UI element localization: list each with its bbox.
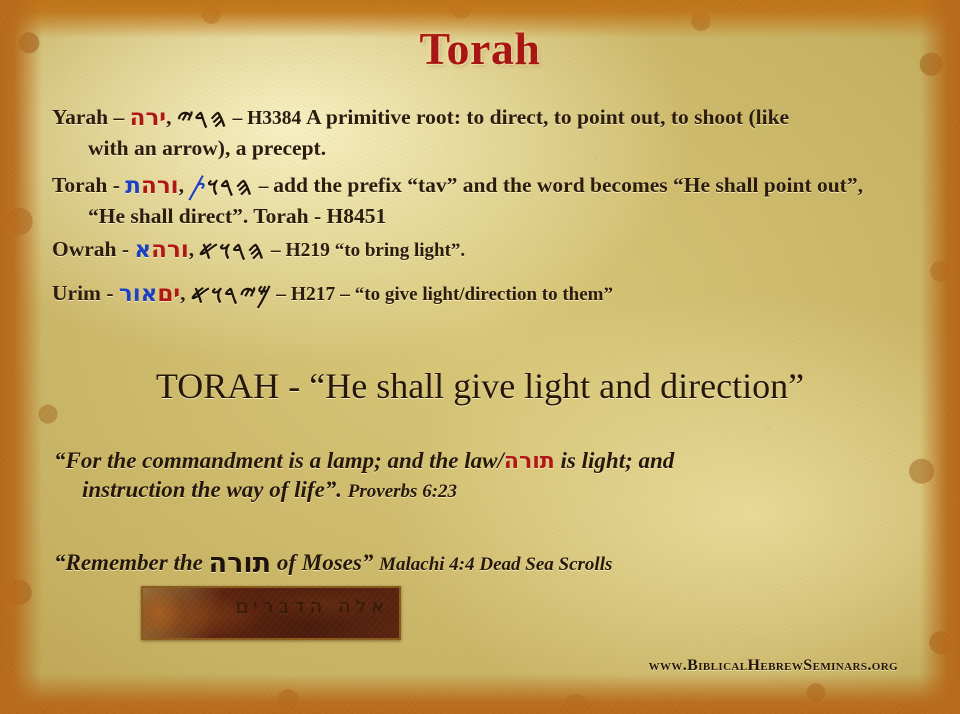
scripture-quote-malachi: “Remember the תורה of Moses” Malachi 4:4… (54, 547, 920, 580)
quote-text-before: “For the commandment is a lamp; and the … (54, 448, 504, 473)
entry-definition: “to give light/direction to them” (355, 284, 613, 305)
paleo-hebrew-word: 𐤄𐤓𐤉 (175, 104, 229, 135)
entry-name: Urim (52, 281, 101, 305)
scripture-reference: Malachi 4:4 Dead Sea Scrolls (379, 554, 612, 575)
entry-dash: - (101, 281, 119, 305)
strongs-number: – H219 (266, 240, 335, 261)
lexicon-entry-torah: Torah - ורהת, 𐤄𐤓𐤅𐤕 – add the prefix “tav… (52, 172, 914, 229)
quote-text-after: is light; and (555, 448, 675, 473)
slide-content: Torah Yarah – ירה, 𐤄𐤓𐤉 – H3384 A primiti… (0, 0, 960, 714)
headline-statement: TORAH - “He shall give light and directi… (0, 365, 960, 407)
hebrew-word-torah: תורה (209, 548, 272, 579)
fragment-scroll-text: אלה הדברים (143, 596, 389, 618)
lexicon-entry-owrah: Owrah - ורהא, 𐤄𐤓𐤅𐤀 – H219 “to bring ligh… (52, 236, 914, 267)
quote-text-after: of Moses” (271, 550, 379, 575)
strongs-number: – H3384 (228, 108, 307, 129)
hebrew-prefix-alef: אור (119, 281, 158, 307)
entry-definition: “to bring light”. (335, 240, 465, 261)
entry-dash: - (107, 173, 125, 197)
scripture-quote-proverbs: “For the commandment is a lamp; and the … (54, 447, 920, 504)
entry-name: Owrah (52, 237, 117, 261)
paleo-hebrew-word: 𐤌𐤉𐤓𐤅𐤀 (189, 280, 273, 311)
scripture-reference: Proverbs 6:23 (348, 481, 457, 502)
strongs-number: – H217 – (271, 284, 354, 305)
quote-line-2: instruction the way of life”. Proverbs 6… (54, 476, 920, 505)
hebrew-word: ורה (141, 173, 179, 199)
strongs-dash: – (254, 176, 274, 197)
hebrew-inline-torah: תורה (504, 449, 555, 474)
entry-definition: add the prefix “tav” and the word become… (273, 173, 863, 197)
hebrew-prefix-alef: א (134, 237, 151, 263)
entry-name: Yarah (52, 105, 108, 129)
hebrew-word: תורה (504, 449, 555, 474)
hebrew-prefix-tav: ת (125, 173, 141, 199)
hebrew-word: ירה (130, 105, 166, 131)
hebrew-word: ים (157, 281, 180, 307)
dead-sea-scroll-fragment-image: אלה הדברים (141, 586, 401, 640)
footer-website-url: www.BiblicalHebrewSeminars.org (649, 657, 898, 675)
lexicon-entry-yarah: Yarah – ירה, 𐤄𐤓𐤉 – H3384 A primitive roo… (52, 104, 914, 161)
entry-definition: A primitive root: to direct, to point ou… (306, 105, 789, 129)
entry-name: Torah (52, 173, 107, 197)
entry-definition-cont: with an arrow), a precept. (52, 135, 914, 161)
hebrew-word: ורה (151, 237, 189, 263)
entry-dash: - (117, 237, 135, 261)
slide-canvas: Torah Yarah – ירה, 𐤄𐤓𐤉 – H3384 A primiti… (0, 0, 960, 714)
paleo-hebrew-word: 𐤄𐤓𐤅 (205, 172, 255, 201)
entry-comma: , (166, 105, 177, 129)
paleo-hebrew-word: 𐤄𐤓𐤅𐤀 (198, 236, 268, 267)
entry-dash: – (108, 105, 130, 129)
entry-definition-cont: “He shall direct”. Torah - H8451 (52, 203, 914, 229)
page-title: Torah (0, 22, 960, 75)
quote-text-before: “Remember the (54, 550, 209, 575)
quote-text-cont: instruction the way of life”. (82, 477, 348, 502)
lexicon-entry-urim: Urim - יםאור, 𐤌𐤉𐤓𐤅𐤀 – H217 – “to give li… (52, 280, 914, 311)
